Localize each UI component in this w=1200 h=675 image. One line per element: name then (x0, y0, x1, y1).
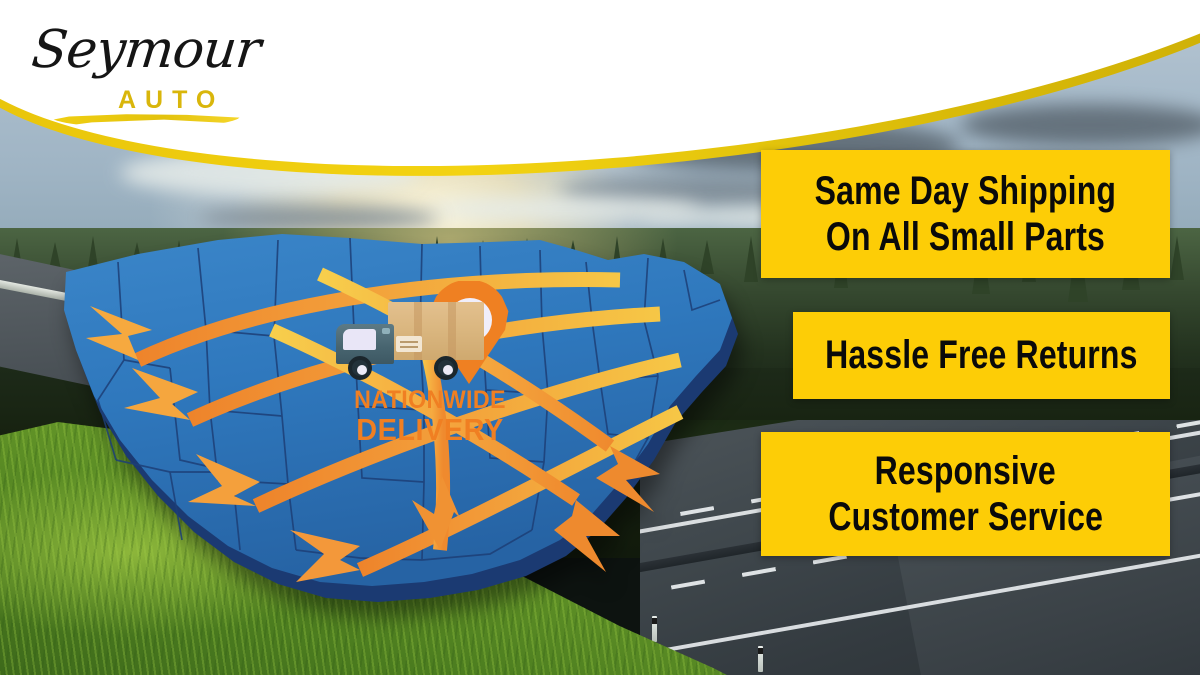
banner-2-line-1: Hassle Free Returns (825, 332, 1138, 378)
nationwide-line-2: DELIVERY (337, 414, 523, 446)
truck-wheel (434, 356, 458, 380)
banner-3-line-1: Responsive (875, 448, 1056, 494)
nationwide-delivery-text: NATIONWIDE DELIVERY (330, 388, 530, 445)
truck-wheel (348, 356, 372, 380)
banner-canvas: Seymour AUTO (0, 0, 1200, 675)
nationwide-delivery-badge: NATIONWIDE DELIVERY (330, 278, 530, 456)
feature-banner-same-day-shipping[interactable]: Same Day Shipping On All Small Parts (761, 150, 1170, 278)
truck-window (343, 329, 376, 350)
banner-3-line-2: Customer Service (828, 494, 1103, 540)
nationwide-line-1: NATIONWIDE (337, 388, 523, 414)
feature-banner-responsive-customer-service[interactable]: Responsive Customer Service (761, 432, 1170, 556)
banner-1-line-1: Same Day Shipping (815, 168, 1116, 214)
logo-sub-text: AUTO (118, 86, 224, 115)
banner-1-line-2: On All Small Parts (826, 214, 1105, 260)
logo-script-text: Seymour (29, 20, 263, 80)
delivery-truck-icon (336, 302, 486, 388)
truck-cargo-box (388, 302, 484, 360)
feature-banner-hassle-free-returns[interactable]: Hassle Free Returns (793, 312, 1170, 399)
swoosh-underline-icon (50, 114, 240, 128)
truck-headlight (382, 328, 390, 334)
seymour-auto-logo[interactable]: Seymour AUTO (28, 18, 258, 126)
